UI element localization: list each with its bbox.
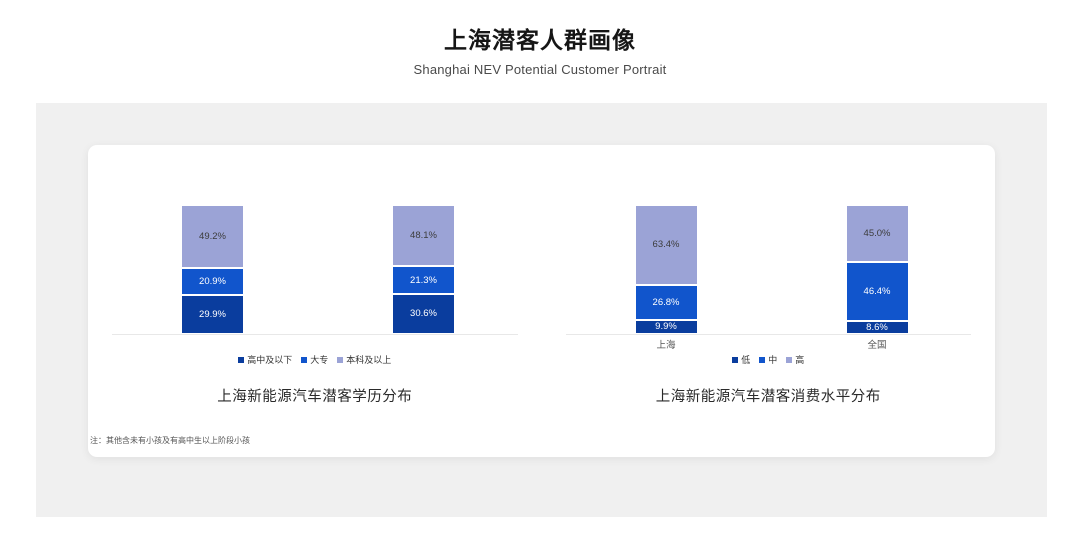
chart-caption-education: 上海新能源汽车潜客学历分布 [88,385,542,406]
bar-segment-label: 63.4% [653,240,680,250]
chart-caption-consumption: 上海新能源汽车潜客消费水平分布 [542,385,996,406]
bar-segment-label: 45.0% [864,229,891,239]
bar-segment-college: 20.9% [182,268,243,296]
plot-area-consumption: 63.4% 26.8% 9.9% 45.0% 46.4% [542,145,996,335]
bar-segment-bachelor-plus: 49.2% [182,205,243,268]
page-header: 上海潜客人群画像 Shanghai NEV Potential Customer… [0,0,1080,100]
stacked-bar-education-1[interactable]: 49.2% 20.9% 29.9% [182,205,243,334]
page-title: 上海潜客人群画像 [0,0,1080,55]
x-axis-category-labels-consumption: 上海 全国 [542,337,996,353]
legend-swatch-icon [759,357,765,363]
chart-consumption-distribution: 63.4% 26.8% 9.9% 45.0% 46.4% [542,145,996,415]
legend-swatch-icon [732,357,738,363]
bar-segment-highschool-below: 29.9% [182,295,243,334]
x-axis-label-national: 全国 [847,337,908,351]
bar-segment-label: 30.6% [410,309,437,319]
footnote: 注：其他含未有小孩及有高中生以上阶段小孩 [88,435,995,446]
x-axis-category-labels-education [88,337,542,353]
bar-segment-label: 9.9% [655,322,677,332]
page-subtitle: Shanghai NEV Potential Customer Portrait [0,55,1080,77]
bar-segment-label: 49.2% [199,232,226,242]
legend-label: 低 [741,353,750,366]
legend-swatch-icon [238,357,244,363]
legend-item-low[interactable]: 低 [732,353,750,366]
legend-item-college[interactable]: 大专 [301,353,328,366]
bar-segment-label: 21.3% [410,276,437,286]
bar-segment-label: 20.9% [199,277,226,287]
bar-segment-highschool-below: 30.6% [393,294,454,334]
legend-label: 中 [768,353,777,366]
legend-item-medium[interactable]: 中 [759,353,777,366]
bar-segment-label: 48.1% [410,231,437,241]
chart-education-distribution: 49.2% 20.9% 29.9% 48.1% 21.3% [88,145,542,415]
legend-swatch-icon [337,357,343,363]
stacked-bar-consumption-shanghai[interactable]: 63.4% 26.8% 9.9% [636,205,697,334]
x-axis-line [112,334,518,335]
legend-swatch-icon [301,357,307,363]
bar-segment-label: 46.4% [864,287,891,297]
legend-education: 高中及以下 大专 本科及以上 [88,353,542,366]
legend-swatch-icon [786,357,792,363]
bar-segment-medium: 26.8% [636,285,697,320]
legend-item-high[interactable]: 高 [786,353,804,366]
legend-label: 大专 [310,353,328,366]
bar-segment-low: 8.6% [847,321,908,334]
legend-label: 本科及以上 [346,353,391,366]
bar-segment-label: 29.9% [199,310,226,320]
bar-segment-high: 45.0% [847,205,908,262]
bar-segment-bachelor-plus: 48.1% [393,205,454,266]
plot-area-education: 49.2% 20.9% 29.9% 48.1% 21.3% [88,145,542,335]
bar-segment-college: 21.3% [393,266,454,294]
bar-segment-label: 26.8% [653,298,680,308]
stacked-bar-consumption-national[interactable]: 45.0% 46.4% 8.6% [847,205,908,334]
content-card: 49.2% 20.9% 29.9% 48.1% 21.3% [88,145,995,457]
x-axis-line [566,334,972,335]
legend-item-highschool-below[interactable]: 高中及以下 [238,353,292,366]
legend-label: 高中及以下 [247,353,292,366]
bar-segment-low: 9.9% [636,320,697,334]
bar-segment-label: 8.6% [866,323,888,333]
legend-consumption: 低 中 高 [542,353,996,366]
stacked-bar-education-2[interactable]: 48.1% 21.3% 30.6% [393,205,454,334]
legend-label: 高 [795,353,804,366]
bar-segment-high: 63.4% [636,205,697,285]
x-axis-label-shanghai: 上海 [636,337,697,351]
legend-item-bachelor-plus[interactable]: 本科及以上 [337,353,391,366]
charts-row: 49.2% 20.9% 29.9% 48.1% 21.3% [88,145,995,415]
bar-segment-medium: 46.4% [847,262,908,321]
